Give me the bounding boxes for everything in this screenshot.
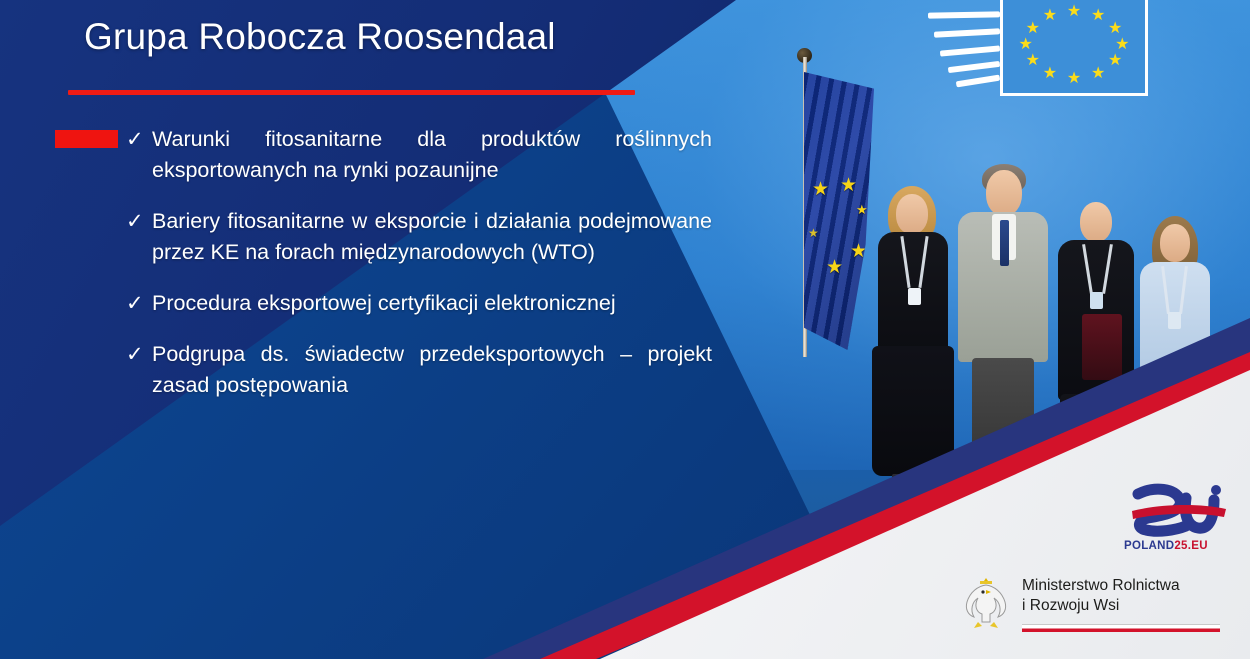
poland25-eu-mark-icon <box>1120 482 1238 538</box>
person-2-tie <box>1000 220 1009 266</box>
list-item: ✓ Podgrupa ds. świadectw przedeksportowy… <box>126 339 712 401</box>
polish-eagle-emblem-icon <box>960 572 1012 634</box>
red-highlight-marker <box>55 130 118 148</box>
list-item-text: Bariery fitosanitarne w eksporcie i dzia… <box>152 206 712 268</box>
ministry-flag-bar <box>1022 624 1220 632</box>
ministry-line-1: Ministerstwo Rolnictwa <box>1022 576 1180 596</box>
list-item: ✓ Bariery fitosanitarne w eksporcie i dz… <box>126 206 712 268</box>
eu25-word: 25.EU <box>1174 540 1207 552</box>
check-icon: ✓ <box>126 124 152 186</box>
eu-flag-emblem: ★ ★ ★ ★ ★ ★ ★ ★ ★ ★ ★ ★ <box>1000 0 1148 96</box>
person-1-badge <box>908 288 921 305</box>
list-item-text: Warunki fitosanitarne dla produktów rośl… <box>152 124 712 186</box>
council-stripes-graphic <box>910 4 1000 84</box>
check-icon: ✓ <box>126 288 152 319</box>
person-4-badge <box>1168 312 1181 329</box>
list-item-text: Procedura eksportowej certyfikacji elekt… <box>152 288 712 319</box>
title-underline-rule <box>68 90 635 95</box>
bullet-list: ✓ Warunki fitosanitarne dla produktów ro… <box>126 124 712 421</box>
person-3-red-trim <box>1082 314 1122 380</box>
person-2-head <box>986 170 1022 216</box>
list-item-text: Podgrupa ds. świadectw przedeksportowych… <box>152 339 712 401</box>
person-4-head <box>1160 224 1190 262</box>
person-1-head <box>896 194 928 234</box>
ministry-of-agriculture-logo: Ministerstwo Rolnictwa i Rozwoju Wsi <box>960 572 1245 648</box>
poland25-eu-logo: POLAND25.EU <box>1120 482 1238 564</box>
list-item: ✓ Warunki fitosanitarne dla produktów ro… <box>126 124 712 186</box>
check-icon: ✓ <box>126 339 152 401</box>
list-item: ✓ Procedura eksportowej certyfikacji ele… <box>126 288 712 319</box>
poland-word: POLAND <box>1124 540 1174 552</box>
eu-star-circle: ★ ★ ★ ★ ★ ★ ★ ★ ★ ★ ★ ★ <box>1003 0 1145 93</box>
person-3-head <box>1080 202 1112 242</box>
ministry-line-2: i Rozwoju Wsi <box>1022 596 1180 616</box>
ministry-name: Ministerstwo Rolnictwa i Rozwoju Wsi <box>1022 572 1180 616</box>
slide-title: Grupa Robocza Roosendaal <box>84 16 556 58</box>
presentation-slide: ★ ★ ★ ★ ★ ★ ★ ★ ★ ★ ★ ★ ★ ★ ★ ★ ★ ★ <box>0 0 1250 659</box>
check-icon: ✓ <box>126 206 152 268</box>
poland25-eu-wordmark: POLAND25.EU <box>1124 540 1242 552</box>
person-3-badge <box>1090 292 1103 309</box>
